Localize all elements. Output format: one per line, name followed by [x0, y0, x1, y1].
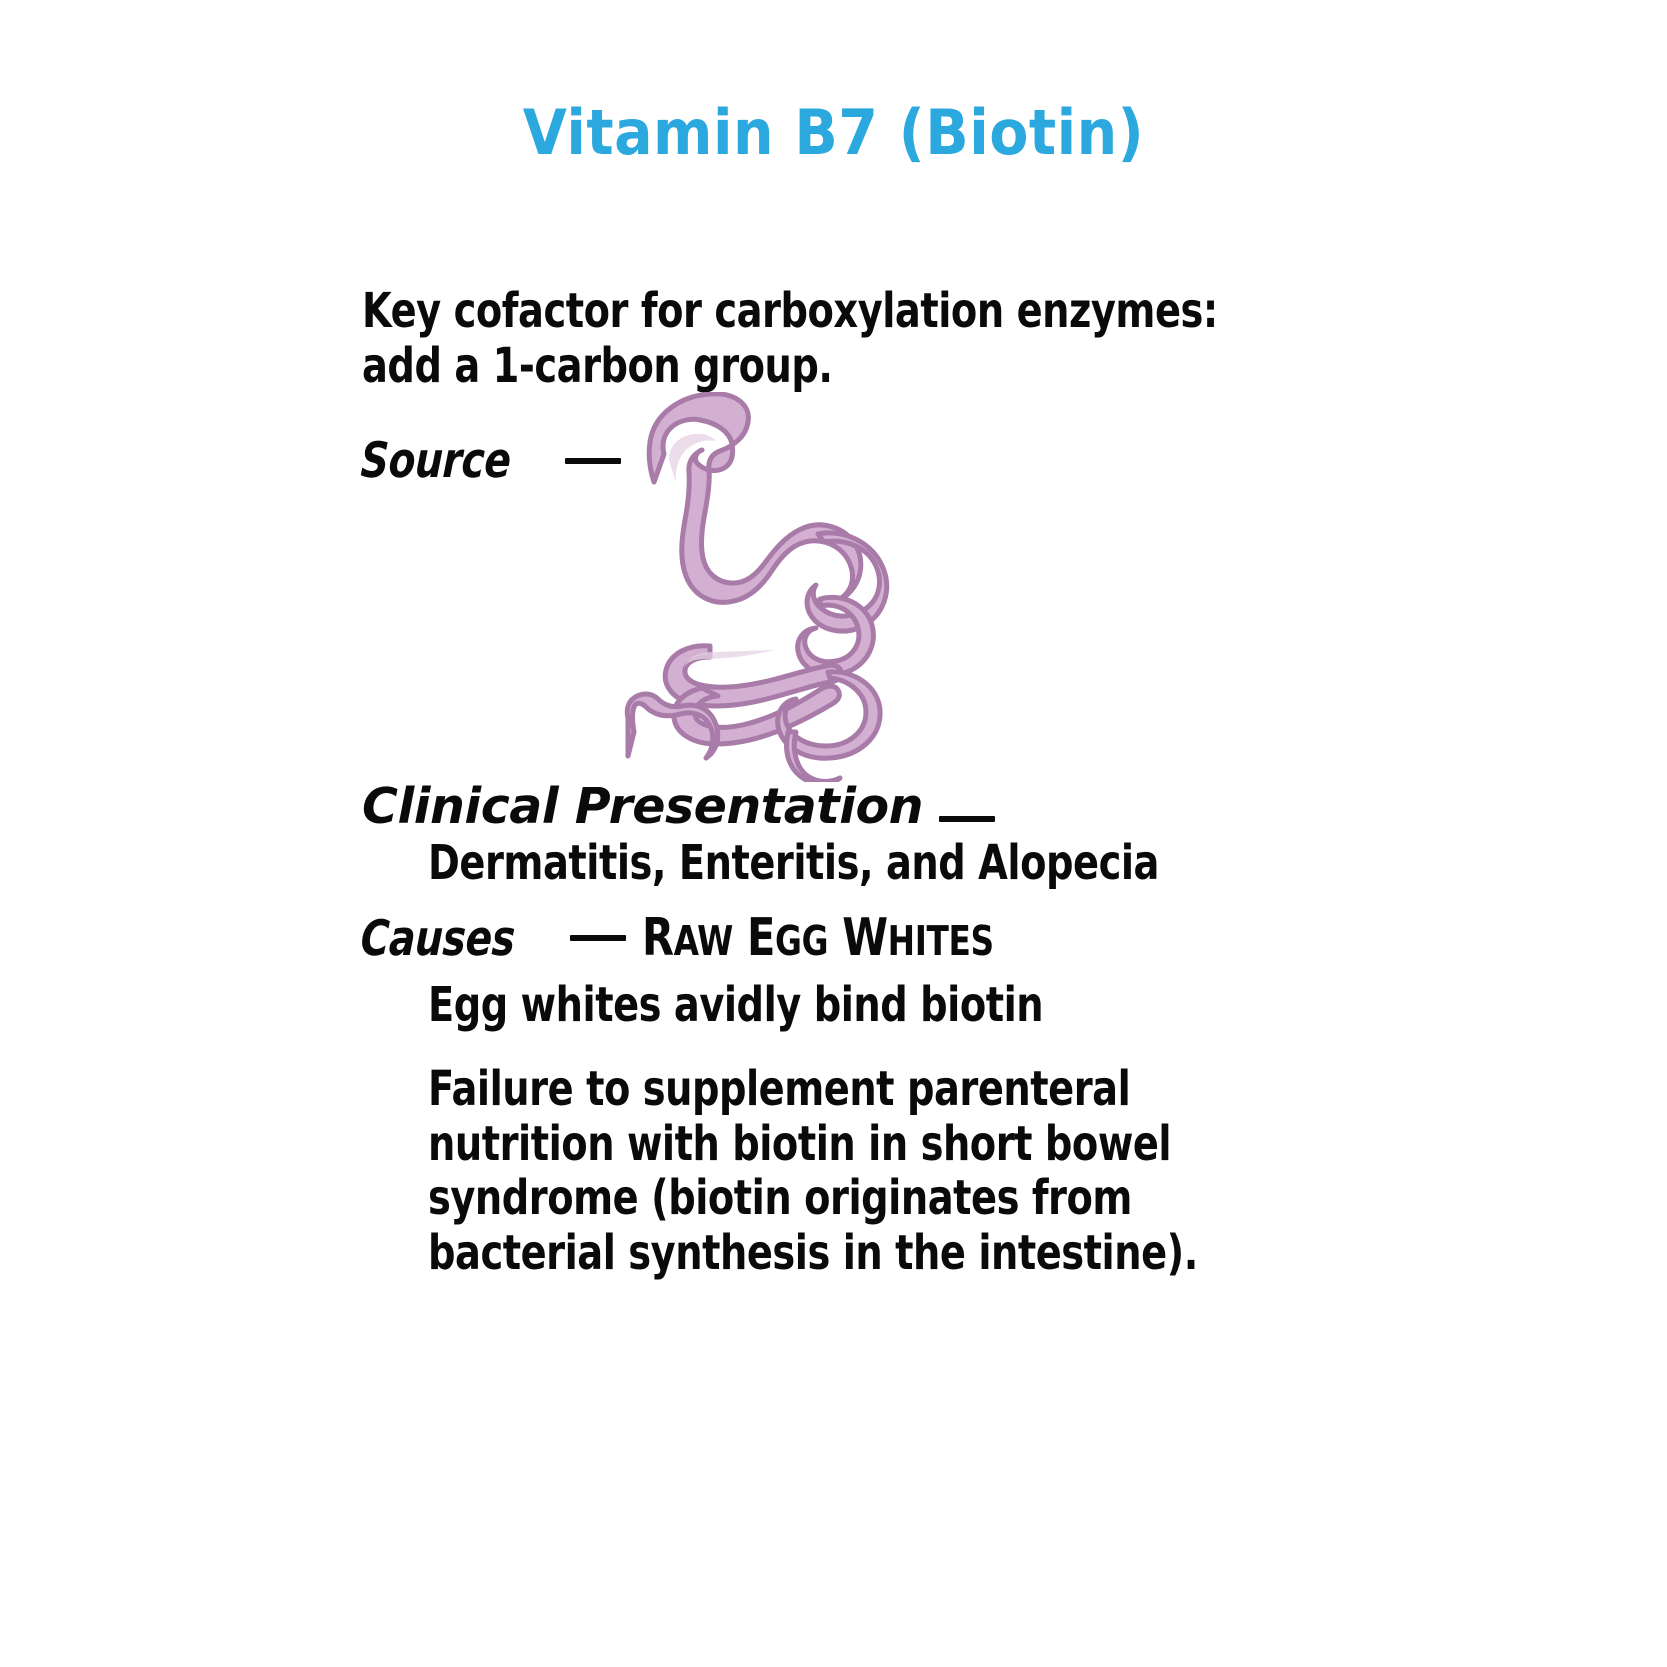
causes-paragraph-line: nutrition with biotin in short bowel [428, 1117, 1236, 1172]
causes-paragraph-line: bacterial synthesis in the intestine). [428, 1226, 1236, 1281]
intro-paragraph: Key cofactor for carboxylation enzymes: … [362, 284, 1234, 393]
causes-paragraph-line: syndrome (biotin originates from [428, 1171, 1236, 1226]
causes-dash-icon [570, 935, 626, 941]
causes-paragraph-line: Failure to supplement parenteral [428, 1062, 1236, 1117]
causes-paragraph: Failure to supplement parenteral nutriti… [428, 1062, 1236, 1281]
flashcard-page: Vitamin B7 (Biotin) Key cofactor for car… [0, 0, 1667, 1667]
source-label: Source [360, 432, 512, 489]
causes-headline-aw: AW [674, 917, 733, 965]
intro-line-1: Key cofactor for carboxylation enzymes: [362, 284, 1234, 339]
causes-headline-r: R [642, 908, 674, 968]
clinical-dash-icon [939, 816, 995, 822]
clinical-presentation-label: Clinical Presentation [362, 778, 923, 835]
causes-headline: RAW EGG WHITES [642, 908, 994, 968]
causes-row: Causes RAW EGG WHITES [362, 908, 1082, 968]
intestine-svg [592, 392, 892, 782]
causes-label: Causes [360, 910, 516, 967]
clinical-presentation-row: Clinical Presentation [362, 778, 997, 835]
causes-headline-e: E [748, 908, 776, 968]
causes-subtext: Egg whites avidly bind biotin [428, 978, 1043, 1033]
page-title: Vitamin B7 (Biotin) [67, 96, 1601, 169]
clinical-presentation-value: Dermatitis, Enteritis, and Alopecia [428, 836, 1159, 891]
causes-headline-hites: HITES [888, 917, 994, 965]
causes-headline-gg: GG [776, 917, 829, 965]
source-row: Source [362, 432, 623, 489]
intestine-illustration [592, 392, 892, 782]
causes-headline-w: W [843, 908, 888, 968]
intro-line-2: add a 1-carbon group. [362, 339, 1234, 394]
